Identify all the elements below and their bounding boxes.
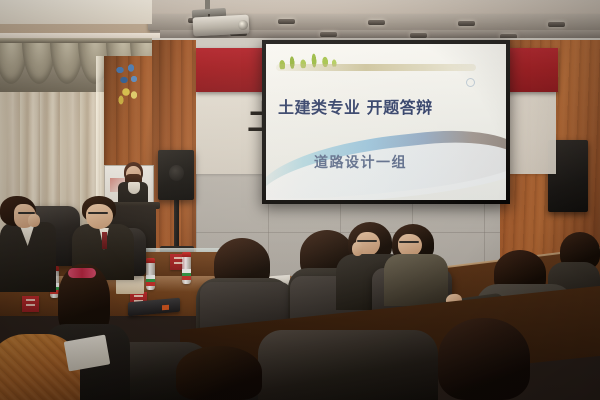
curtain-rod — [0, 38, 152, 43]
foreground-head — [176, 346, 262, 400]
slide-bubble-icon — [466, 78, 475, 87]
tile-seam — [196, 232, 500, 233]
bottle-cap — [182, 252, 191, 257]
speaker-stand-pole — [174, 200, 179, 248]
bottle-cap — [146, 258, 155, 263]
laptop-tab — [162, 305, 169, 311]
name-card — [22, 296, 39, 312]
ceiling-light — [278, 19, 295, 24]
slide-subtitle: 道路设计一组 — [314, 152, 484, 174]
bottle-label — [182, 269, 191, 280]
slide-header-band — [276, 64, 476, 71]
presenter-collar — [128, 182, 140, 194]
necktie — [102, 232, 107, 249]
bottle-label — [146, 275, 155, 286]
hand — [352, 242, 363, 256]
slide-title: 土建类专业 开题答辩 — [278, 96, 494, 120]
foreground-head — [438, 318, 530, 400]
hand — [28, 214, 40, 227]
hair-bow — [68, 268, 96, 278]
ceiling-cornice — [0, 0, 152, 24]
foreground-chair — [258, 330, 438, 400]
ceiling-light — [458, 21, 475, 26]
ceiling-light — [548, 22, 565, 27]
student-body — [384, 254, 448, 306]
ceiling-light — [368, 20, 385, 25]
flower-decoration-icon — [112, 62, 142, 110]
projection-screen: 土建类专业 开题答辩 道路设计一组 — [266, 44, 506, 200]
ceiling-light — [320, 32, 337, 37]
glasses-icon — [399, 241, 419, 243]
glasses-icon — [88, 212, 108, 214]
conference-room-photo: 土 木 学 院 SCHOOL OF ENGINEERING 2015届 开题答辩… — [0, 0, 600, 400]
speaker-cone-icon — [169, 165, 184, 181]
